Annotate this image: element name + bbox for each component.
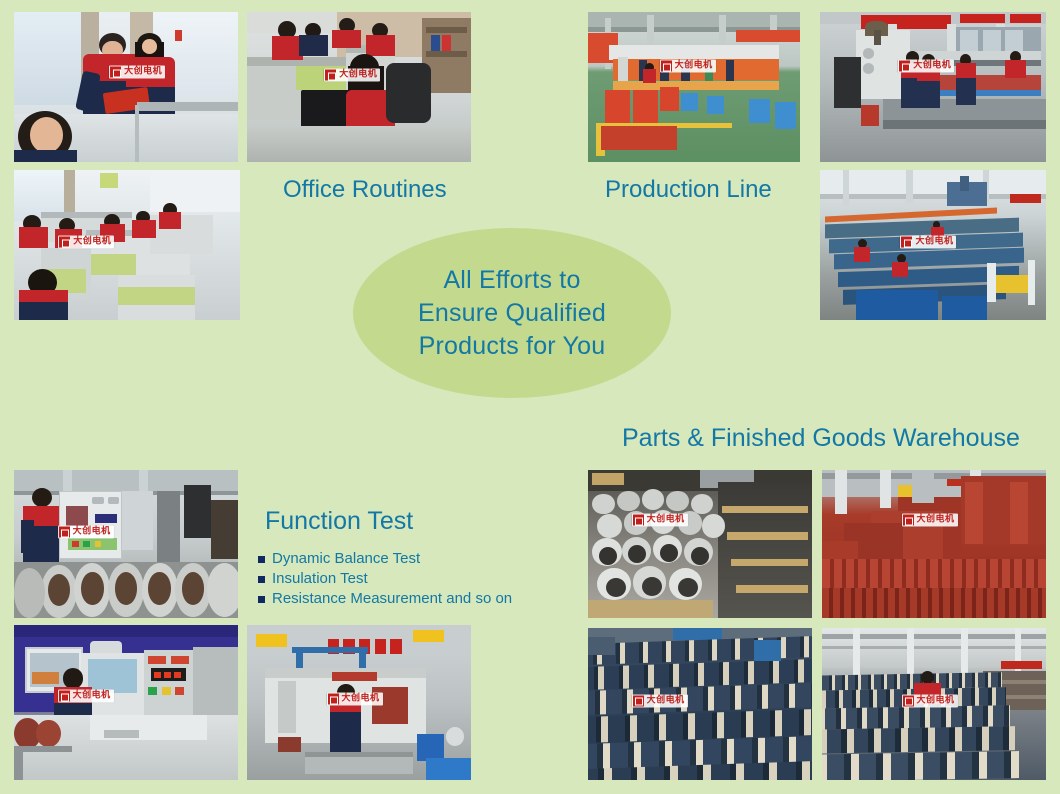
watermark-text: 大创电机: [915, 237, 953, 248]
watermark-text: 大创电机: [913, 61, 951, 72]
photo-office-desk-review: 大创电机: [14, 12, 238, 162]
watermark-badge: 大创电机: [902, 514, 958, 527]
logo-square-icon: [899, 61, 910, 72]
watermark-badge: 大创电机: [632, 514, 688, 527]
watermark-badge: 大创电机: [632, 694, 688, 707]
logo-square-icon: [59, 527, 70, 538]
logo-square-icon: [59, 691, 70, 702]
ellipse-line-3: Products for You: [419, 330, 606, 363]
watermark-badge: 大创电机: [660, 60, 716, 73]
watermark-badge: 大创电机: [58, 236, 114, 249]
watermark-text: 大创电机: [675, 61, 713, 72]
photo-warehouse-red-housings: 大创电机: [822, 470, 1046, 618]
list-item-label: Dynamic Balance Test: [272, 549, 420, 569]
heading-parts-finished-goods-warehouse: Parts & Finished Goods Warehouse: [622, 424, 1020, 452]
watermark-badge: 大创电机: [109, 66, 165, 79]
photo-office-open-plan: 大创电机: [14, 170, 240, 320]
watermark-badge: 大创电机: [898, 60, 954, 73]
photo-warehouse-blue-motors: 大创电机: [588, 628, 812, 780]
watermark-text: 大创电机: [73, 237, 111, 248]
watermark-badge: 大创电机: [324, 69, 380, 82]
list-item: Insulation Test: [258, 569, 512, 589]
watermark-text: 大创电机: [647, 515, 685, 526]
heading-function-test: Function Test: [265, 507, 413, 535]
watermark-text: 大创电机: [342, 694, 380, 705]
list-item-label: Resistance Measurement and so on: [272, 589, 512, 609]
watermark-badge: 大创电机: [58, 690, 114, 703]
watermark-text: 大创电机: [124, 67, 162, 78]
watermark-badge: 大创电机: [327, 693, 383, 706]
logo-square-icon: [328, 694, 339, 705]
factory-overview-poster: 大创电机: [0, 0, 1060, 794]
watermark-badge: 大创电机: [902, 694, 958, 707]
watermark-text: 大创电机: [73, 527, 111, 538]
watermark-text: 大创电机: [917, 515, 955, 526]
ellipse-line-2: Ensure Qualified: [418, 297, 606, 330]
heading-production-line: Production Line: [605, 176, 772, 204]
logo-square-icon: [633, 695, 644, 706]
watermark-text: 大创电机: [647, 695, 685, 706]
logo-square-icon: [903, 515, 914, 526]
logo-square-icon: [661, 61, 672, 72]
logo-square-icon: [59, 237, 70, 248]
heading-office-routines: Office Routines: [283, 176, 447, 204]
ellipse-line-1: All Efforts to: [443, 264, 580, 297]
watermark-text: 大创电机: [73, 691, 111, 702]
watermark-text: 大创电机: [339, 70, 377, 81]
photo-warehouse-stator-cores: 大创电机: [588, 470, 812, 618]
logo-square-icon: [325, 70, 336, 81]
watermark-text: 大创电机: [917, 695, 955, 706]
photo-test-control-panel: 大创电机: [14, 470, 238, 618]
photo-test-computer-station: 大创电机: [14, 625, 238, 780]
bullet-square-icon: [258, 556, 265, 563]
function-test-bullet-list: Dynamic Balance Test Insulation Test Res…: [258, 549, 512, 609]
watermark-badge: 大创电机: [900, 236, 956, 249]
photo-production-assembly-line: 大创电机: [588, 12, 800, 162]
list-item-label: Insulation Test: [272, 569, 368, 589]
logo-square-icon: [901, 237, 912, 248]
photo-production-motor-conveyor: 大创电机: [820, 170, 1046, 320]
watermark-badge: 大创电机: [58, 526, 114, 539]
list-item: Resistance Measurement and so on: [258, 589, 512, 609]
list-item: Dynamic Balance Test: [258, 549, 512, 569]
photo-production-press-station: 大创电机: [820, 12, 1046, 162]
center-ellipse-callout: All Efforts to Ensure Qualified Products…: [353, 228, 671, 398]
logo-square-icon: [110, 67, 121, 78]
photo-warehouse-overview: 大创电机: [822, 628, 1046, 780]
photo-test-inspection-center: 大创电机: [247, 625, 471, 780]
photo-office-cubicles-computer: 大创电机: [247, 12, 471, 162]
bullet-square-icon: [258, 576, 265, 583]
logo-square-icon: [903, 695, 914, 706]
bullet-square-icon: [258, 596, 265, 603]
logo-square-icon: [633, 515, 644, 526]
